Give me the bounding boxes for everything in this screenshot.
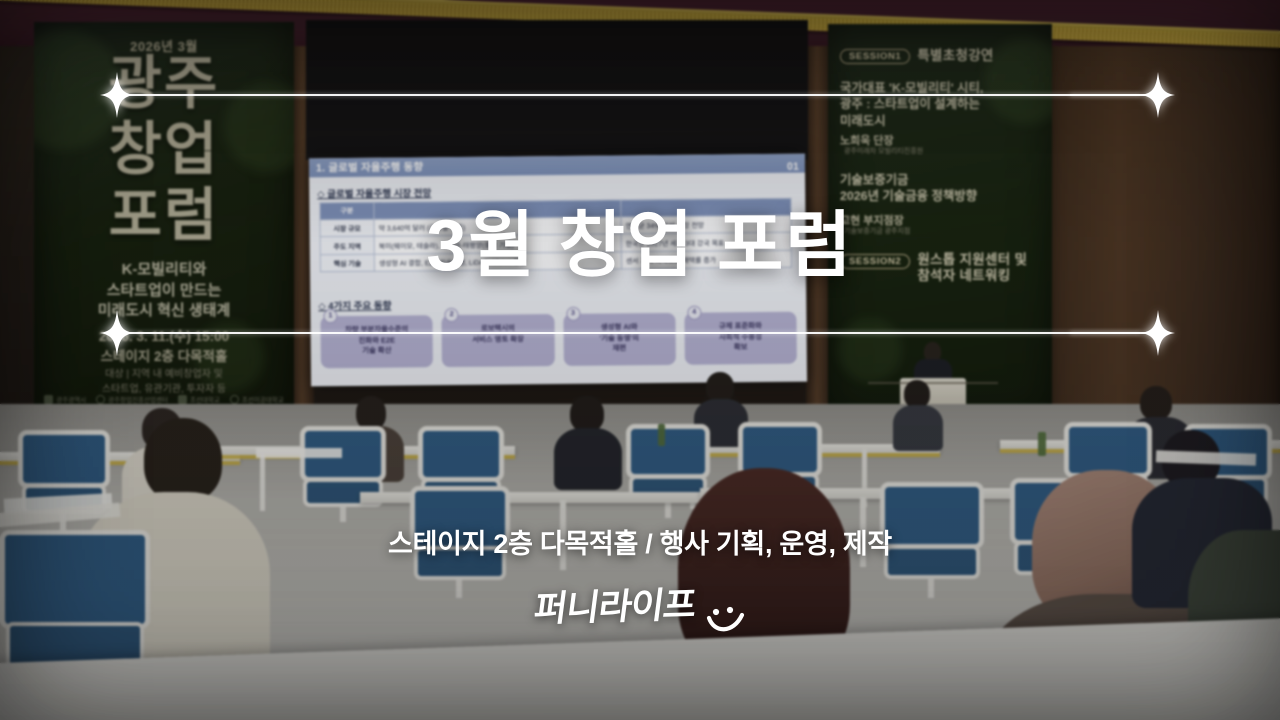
overlay-graphics: 3월 창업 포럼 스테이지 2층 다목적홀 / 행사 기획, 운영, 제작 퍼니… <box>0 0 1280 720</box>
screenshot-root: 2026년 3월 광주 창업 포럼 K-모빌리티와 스타트업이 만드는 미래도시… <box>0 0 1280 720</box>
rule-line-top-left <box>120 94 1140 96</box>
four-point-star-icon <box>100 72 134 118</box>
brand-lockup: 퍼니라이프 <box>0 578 1280 632</box>
four-point-star-icon <box>1141 310 1175 356</box>
rule-line-bottom-left <box>120 332 1140 334</box>
page-title: 3월 창업 포럼 <box>0 186 1280 291</box>
four-point-star-icon <box>1141 72 1175 118</box>
subtitle: 스테이지 2층 다목적홀 / 행사 기획, 운영, 제작 <box>0 522 1280 561</box>
four-point-star-icon <box>100 310 134 356</box>
brand-wordmark: 퍼니라이프 <box>532 576 700 632</box>
smiley-face-icon <box>705 603 745 637</box>
